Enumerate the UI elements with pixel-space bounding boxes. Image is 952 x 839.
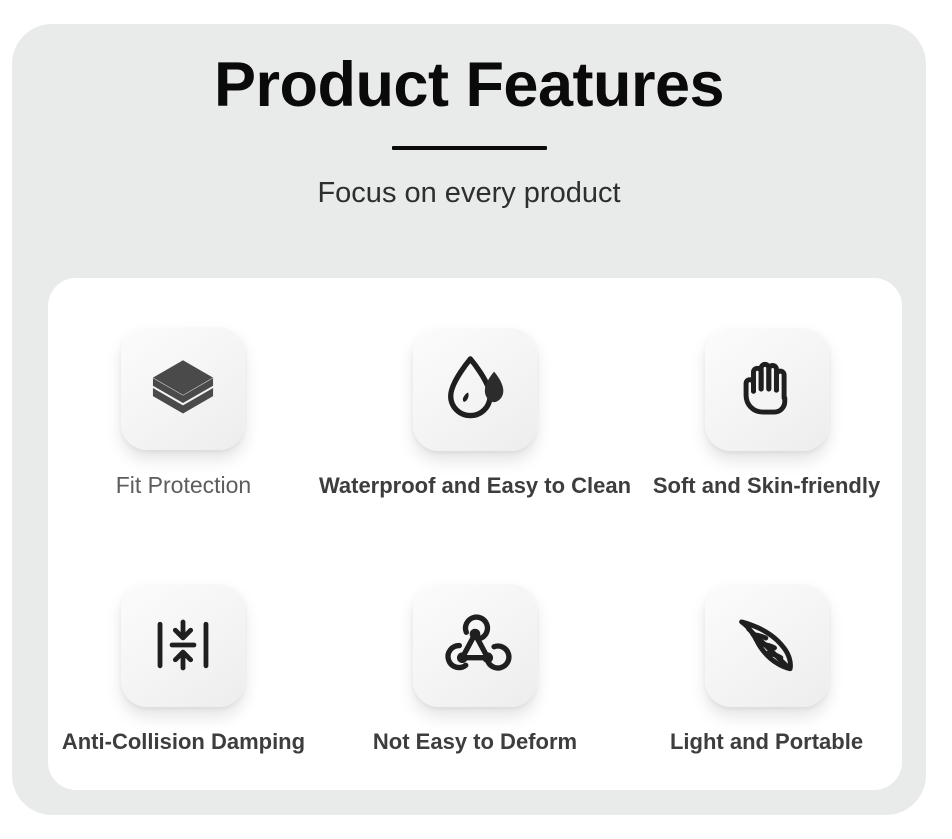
water-drop-icon — [438, 352, 512, 426]
feather-leaf-icon — [730, 608, 804, 682]
compression-arrows-icon — [148, 610, 218, 680]
feature-label: Not Easy to Deform — [373, 729, 577, 755]
hand-palm-icon — [731, 353, 803, 425]
feature-label: Waterproof and Easy to Clean — [319, 473, 631, 499]
feature-label: Soft and Skin-friendly — [653, 473, 880, 499]
feature-label: Light and Portable — [670, 729, 863, 755]
feature-item-anti-collision-damping[interactable]: Anti-Collision Damping — [48, 569, 319, 755]
icon-tile — [413, 327, 537, 451]
feature-grid: Fit Protection Waterproof and Easy to Cl… — [48, 278, 902, 790]
header: Product Features Focus on every product — [12, 24, 926, 211]
icon-tile — [705, 327, 829, 451]
feature-card: Fit Protection Waterproof and Easy to Cl… — [48, 278, 902, 790]
feature-label: Fit Protection — [116, 472, 252, 500]
feature-item-soft-skin-friendly[interactable]: Soft and Skin-friendly — [631, 313, 902, 499]
icon-tile — [413, 583, 537, 707]
feature-item-waterproof[interactable]: Waterproof and Easy to Clean — [319, 313, 631, 499]
feature-item-fit-protection[interactable]: Fit Protection — [48, 312, 319, 500]
triangle-nodes-icon — [438, 608, 512, 682]
icon-tile — [121, 326, 245, 450]
page-subtitle: Focus on every product — [12, 150, 926, 211]
feature-item-light-and-portable[interactable]: Light and Portable — [631, 569, 902, 755]
product-features-panel: Product Features Focus on every product … — [12, 24, 926, 815]
feature-label: Anti-Collision Damping — [62, 729, 305, 755]
feature-item-not-easy-to-deform[interactable]: Not Easy to Deform — [319, 569, 631, 755]
page-title: Product Features — [12, 24, 926, 118]
layers-icon — [146, 351, 220, 425]
icon-tile — [121, 583, 245, 707]
icon-tile — [705, 583, 829, 707]
